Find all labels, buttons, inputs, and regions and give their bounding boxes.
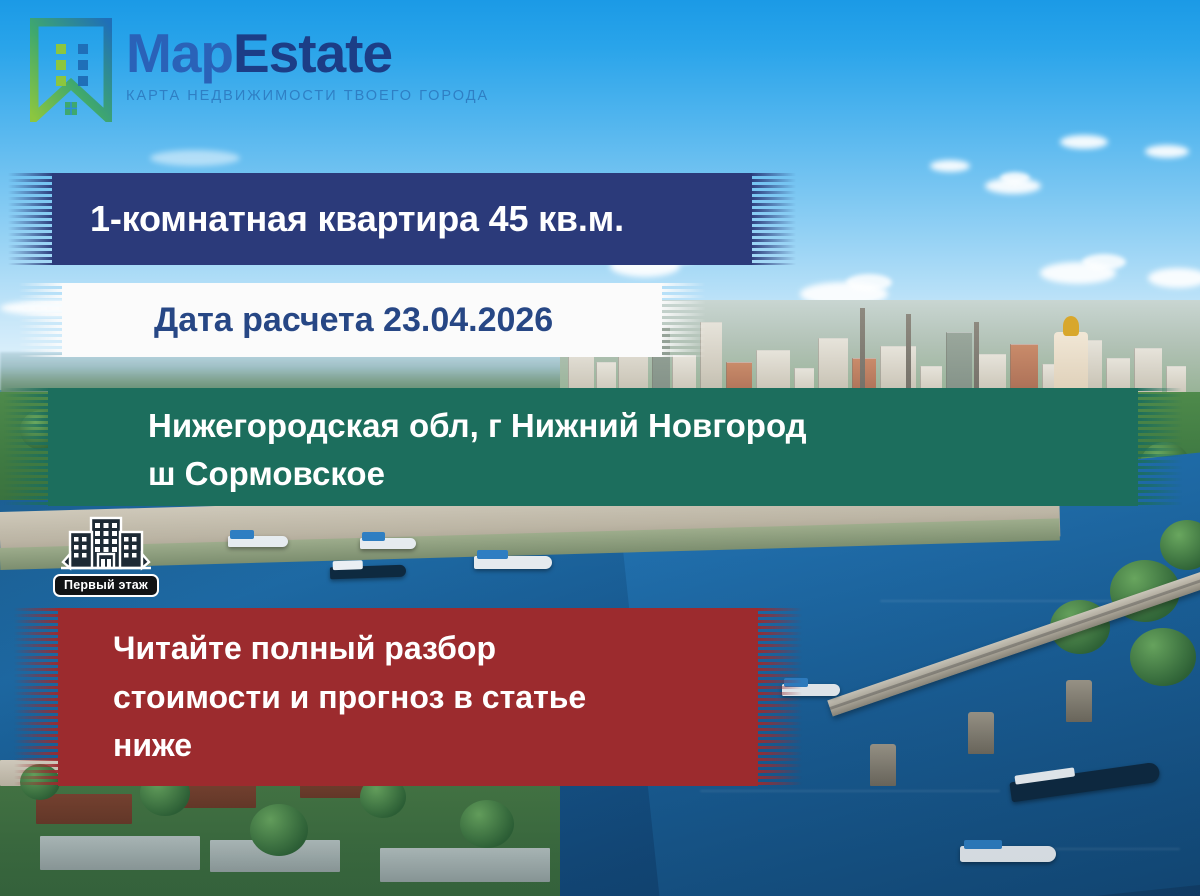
banner-cta-text: Читайте полный разбор стоимости и прогно…	[113, 624, 586, 770]
banner-address-text: Нижегородская обл, г Нижний Новгород ш С…	[148, 402, 807, 498]
poster-root: MapEstate КАРТА НЕДВИЖИМОСТИ ТВОЕГО ГОРО…	[0, 0, 1200, 896]
passenger-ship-5	[960, 846, 1056, 862]
banner-address-line2: ш Сормовское	[148, 450, 807, 498]
logo-word-estate: Estate	[233, 22, 392, 84]
banner-date-text: Дата расчета 23.04.2026	[154, 301, 553, 340]
banner-cta-line1: Читайте полный разбор	[113, 624, 586, 673]
banner-cta: Читайте полный разбор стоимости и прогно…	[58, 608, 758, 786]
banner-cta-line2: стоимости и прогноз в статье	[113, 673, 586, 722]
logo-word-map: Map	[126, 22, 233, 84]
logo-wordmark: MapEstate	[126, 26, 489, 81]
watermark: Первый этаж	[42, 514, 170, 597]
logo[interactable]: MapEstate КАРТА НЕДВИЖИМОСТИ ТВОЕГО ГОРО…	[30, 18, 489, 122]
banner-address-line1: Нижегородская обл, г Нижний Новгород	[148, 402, 807, 450]
banner-area-text: 1-комнатная квартира 45 кв.м.	[90, 198, 624, 240]
building-icon	[58, 514, 154, 576]
logo-tagline: КАРТА НЕДВИЖИМОСТИ ТВОЕГО ГОРОДА	[126, 88, 489, 104]
passenger-ship-2	[228, 536, 288, 547]
banner-address: Нижегородская обл, г Нижний Новгород ш С…	[48, 388, 1138, 506]
bookmark-building-icon	[30, 18, 112, 122]
banner-area: 1-комнатная квартира 45 кв.м.	[52, 173, 752, 265]
passenger-ship	[474, 556, 552, 569]
banner-cta-line3: ниже	[113, 721, 586, 770]
logo-text: MapEstate КАРТА НЕДВИЖИМОСТИ ТВОЕГО ГОРО…	[126, 18, 489, 104]
watermark-label: Первый этаж	[53, 574, 159, 597]
banner-date: Дата расчета 23.04.2026	[62, 283, 662, 357]
passenger-ship-3	[360, 538, 416, 549]
